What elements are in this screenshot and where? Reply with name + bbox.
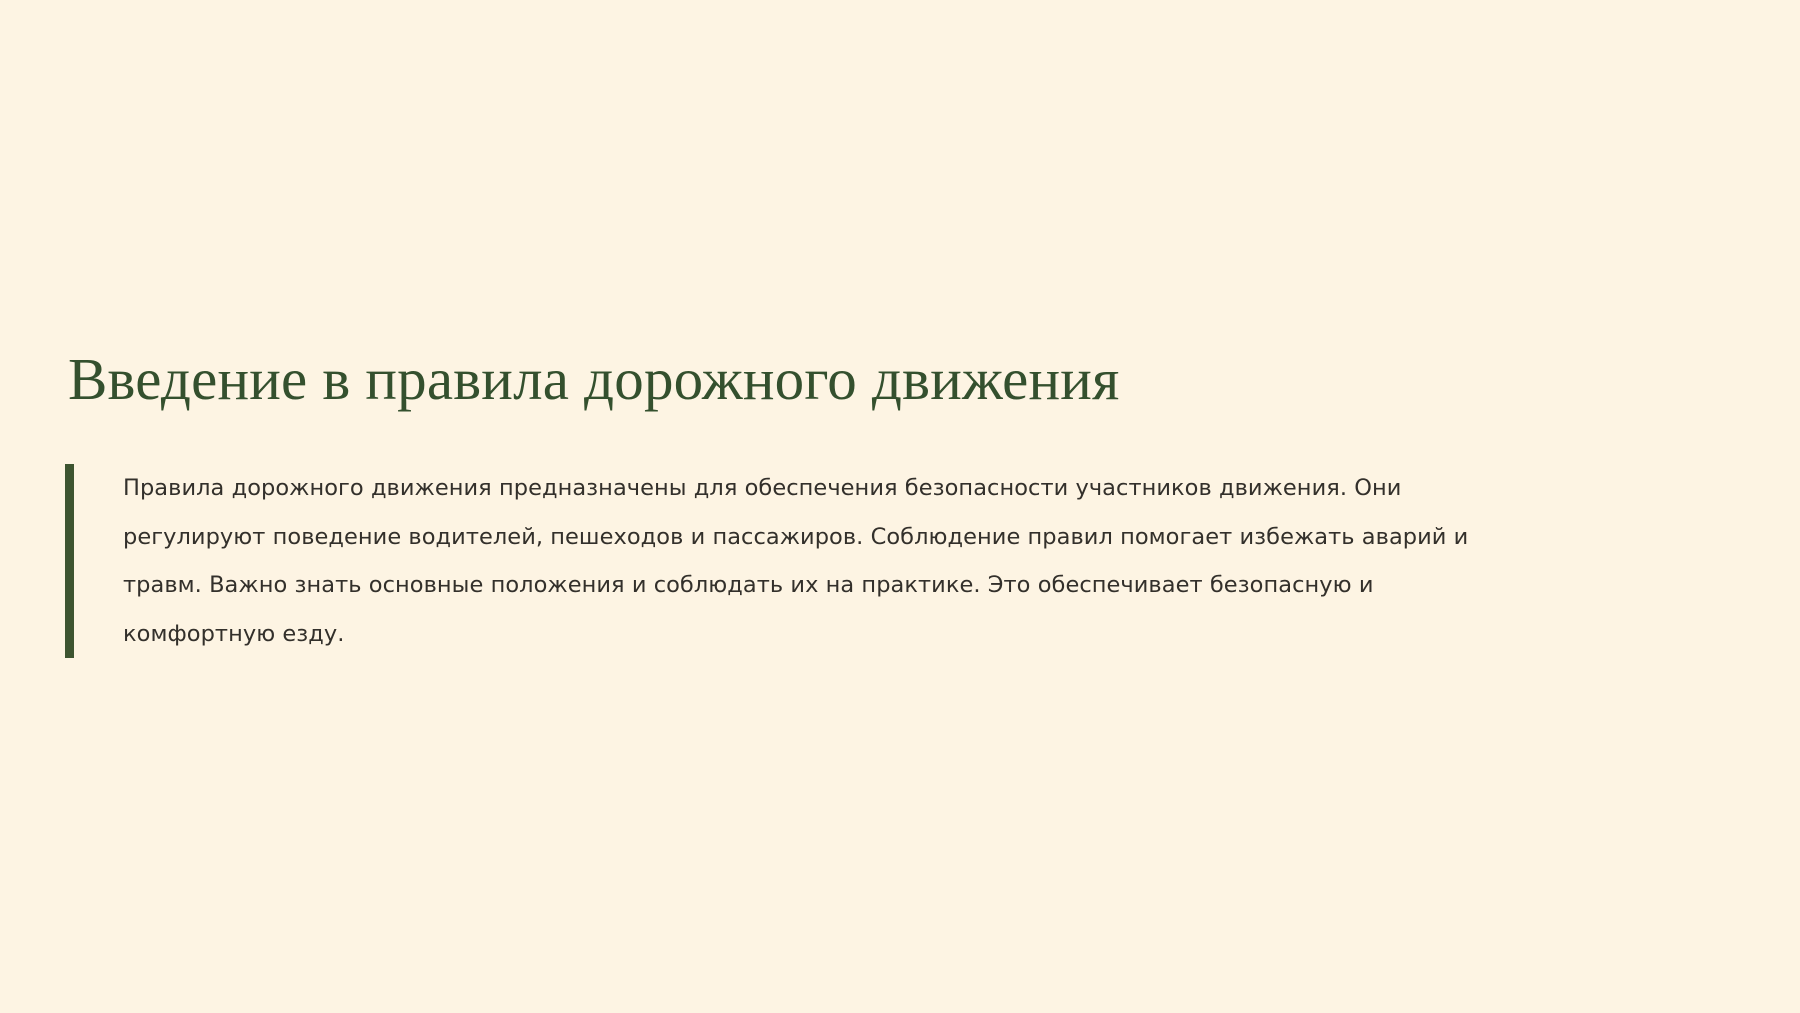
intro-paragraph: Правила дорожного движения предназначены… [74,464,1513,658]
accent-bar [65,464,74,658]
slide-canvas: Введение в правила дорожного движения Пр… [0,0,1800,1013]
intro-callout: Правила дорожного движения предназначены… [65,464,1665,658]
page-title: Введение в правила дорожного движения [68,340,1728,418]
